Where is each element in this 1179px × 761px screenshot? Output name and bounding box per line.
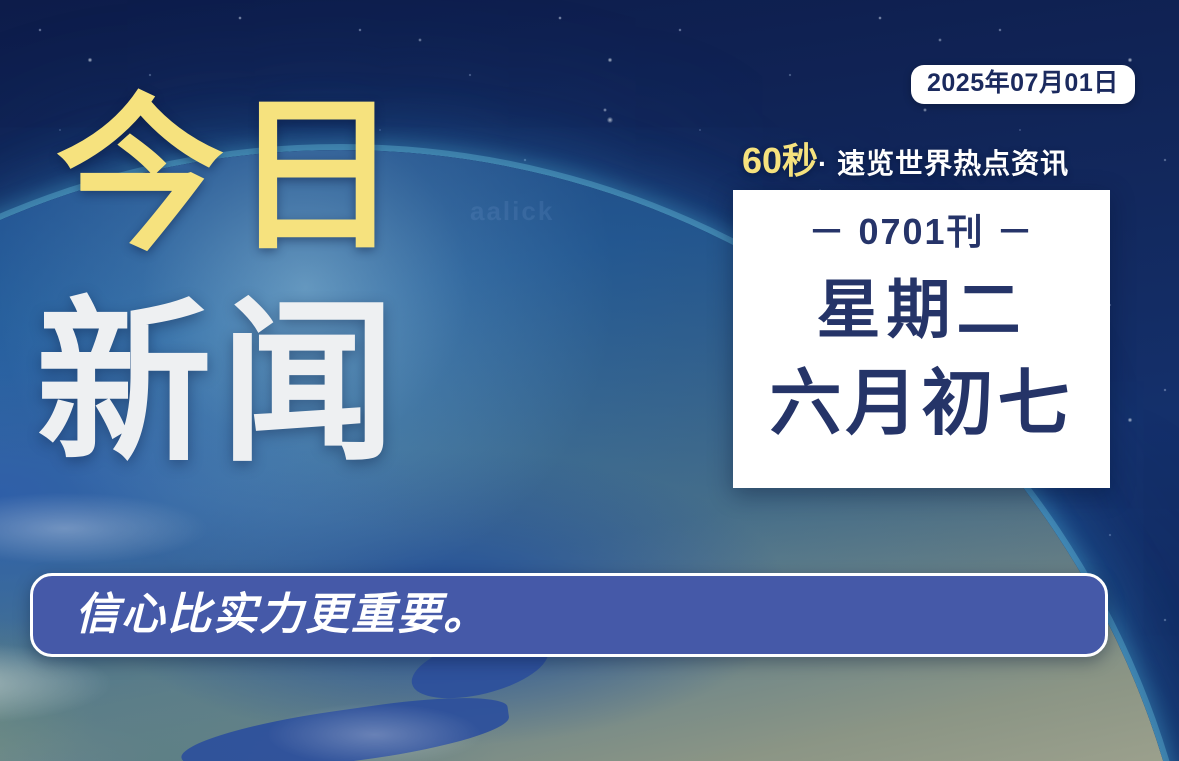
tagline-rest: · 速览世界热点资讯 bbox=[818, 148, 1069, 179]
tagline: 60秒· 速览世界热点资讯 bbox=[742, 143, 1069, 179]
page-title-line2: 新闻 bbox=[36, 296, 404, 472]
lunar-date-label: 六月初七 bbox=[769, 368, 1073, 440]
tagline-highlight: 60秒 bbox=[742, 140, 818, 181]
date-badge: 2025年07月01日 bbox=[911, 65, 1135, 104]
quote-banner: 信心比实力更重要。 bbox=[30, 573, 1108, 657]
news-poster: aalick 今日 新闻 2025年07月01日 60秒· 速览世界热点资讯 －… bbox=[0, 0, 1179, 761]
quote-text: 信心比实力更重要。 bbox=[75, 593, 489, 637]
info-card: － 0701刊 － 星期二 六月初七 bbox=[733, 190, 1110, 488]
page-title-line1: 今日 bbox=[56, 92, 408, 260]
issue-number: － 0701刊 － bbox=[808, 214, 1034, 250]
weekday-label: 星期二 bbox=[817, 278, 1027, 342]
